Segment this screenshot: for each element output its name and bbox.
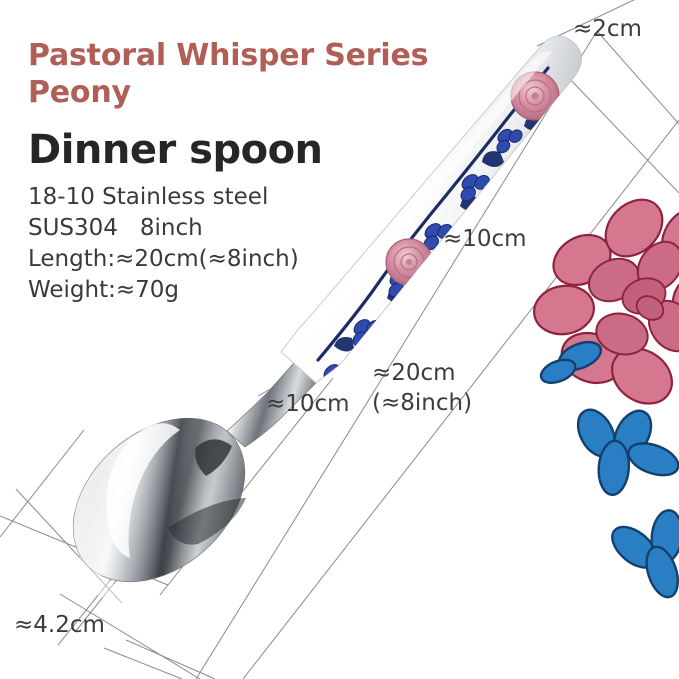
handle-rose-lower — [386, 239, 432, 285]
series-title-line2: Peony — [28, 75, 458, 112]
dimension-total-length-inch: (≈8inch) — [372, 390, 472, 416]
dimension-handle-length: ≈10cm — [443, 226, 527, 252]
dimension-handle-width: ≈2cm — [573, 16, 642, 42]
spec-grade: SUS304 8inch — [28, 213, 299, 244]
footer: Verified by Transparency Each item has a… — [0, 598, 679, 679]
spoon-graphic — [41, 36, 581, 615]
dimension-total-length: ≈20cm — [372, 360, 456, 386]
spec-length: Length:≈20cm(≈8inch) — [28, 244, 299, 275]
dimension-bowl-length: ≈10cm — [266, 391, 350, 417]
series-title: Pastoral Whisper Series Peony — [28, 38, 458, 111]
decorative-peony — [530, 188, 679, 609]
spec-material: 18-10 Stainless steel — [28, 182, 299, 213]
product-infographic: Pastoral Whisper Series Peony Dinner spo… — [0, 0, 679, 679]
spec-weight: Weight:≈70g — [28, 275, 299, 306]
product-name: Dinner spoon — [28, 128, 323, 172]
series-title-line1: Pastoral Whisper Series — [28, 38, 458, 75]
spec-list: 18-10 Stainless steel SUS304 8inch Lengt… — [28, 182, 299, 306]
